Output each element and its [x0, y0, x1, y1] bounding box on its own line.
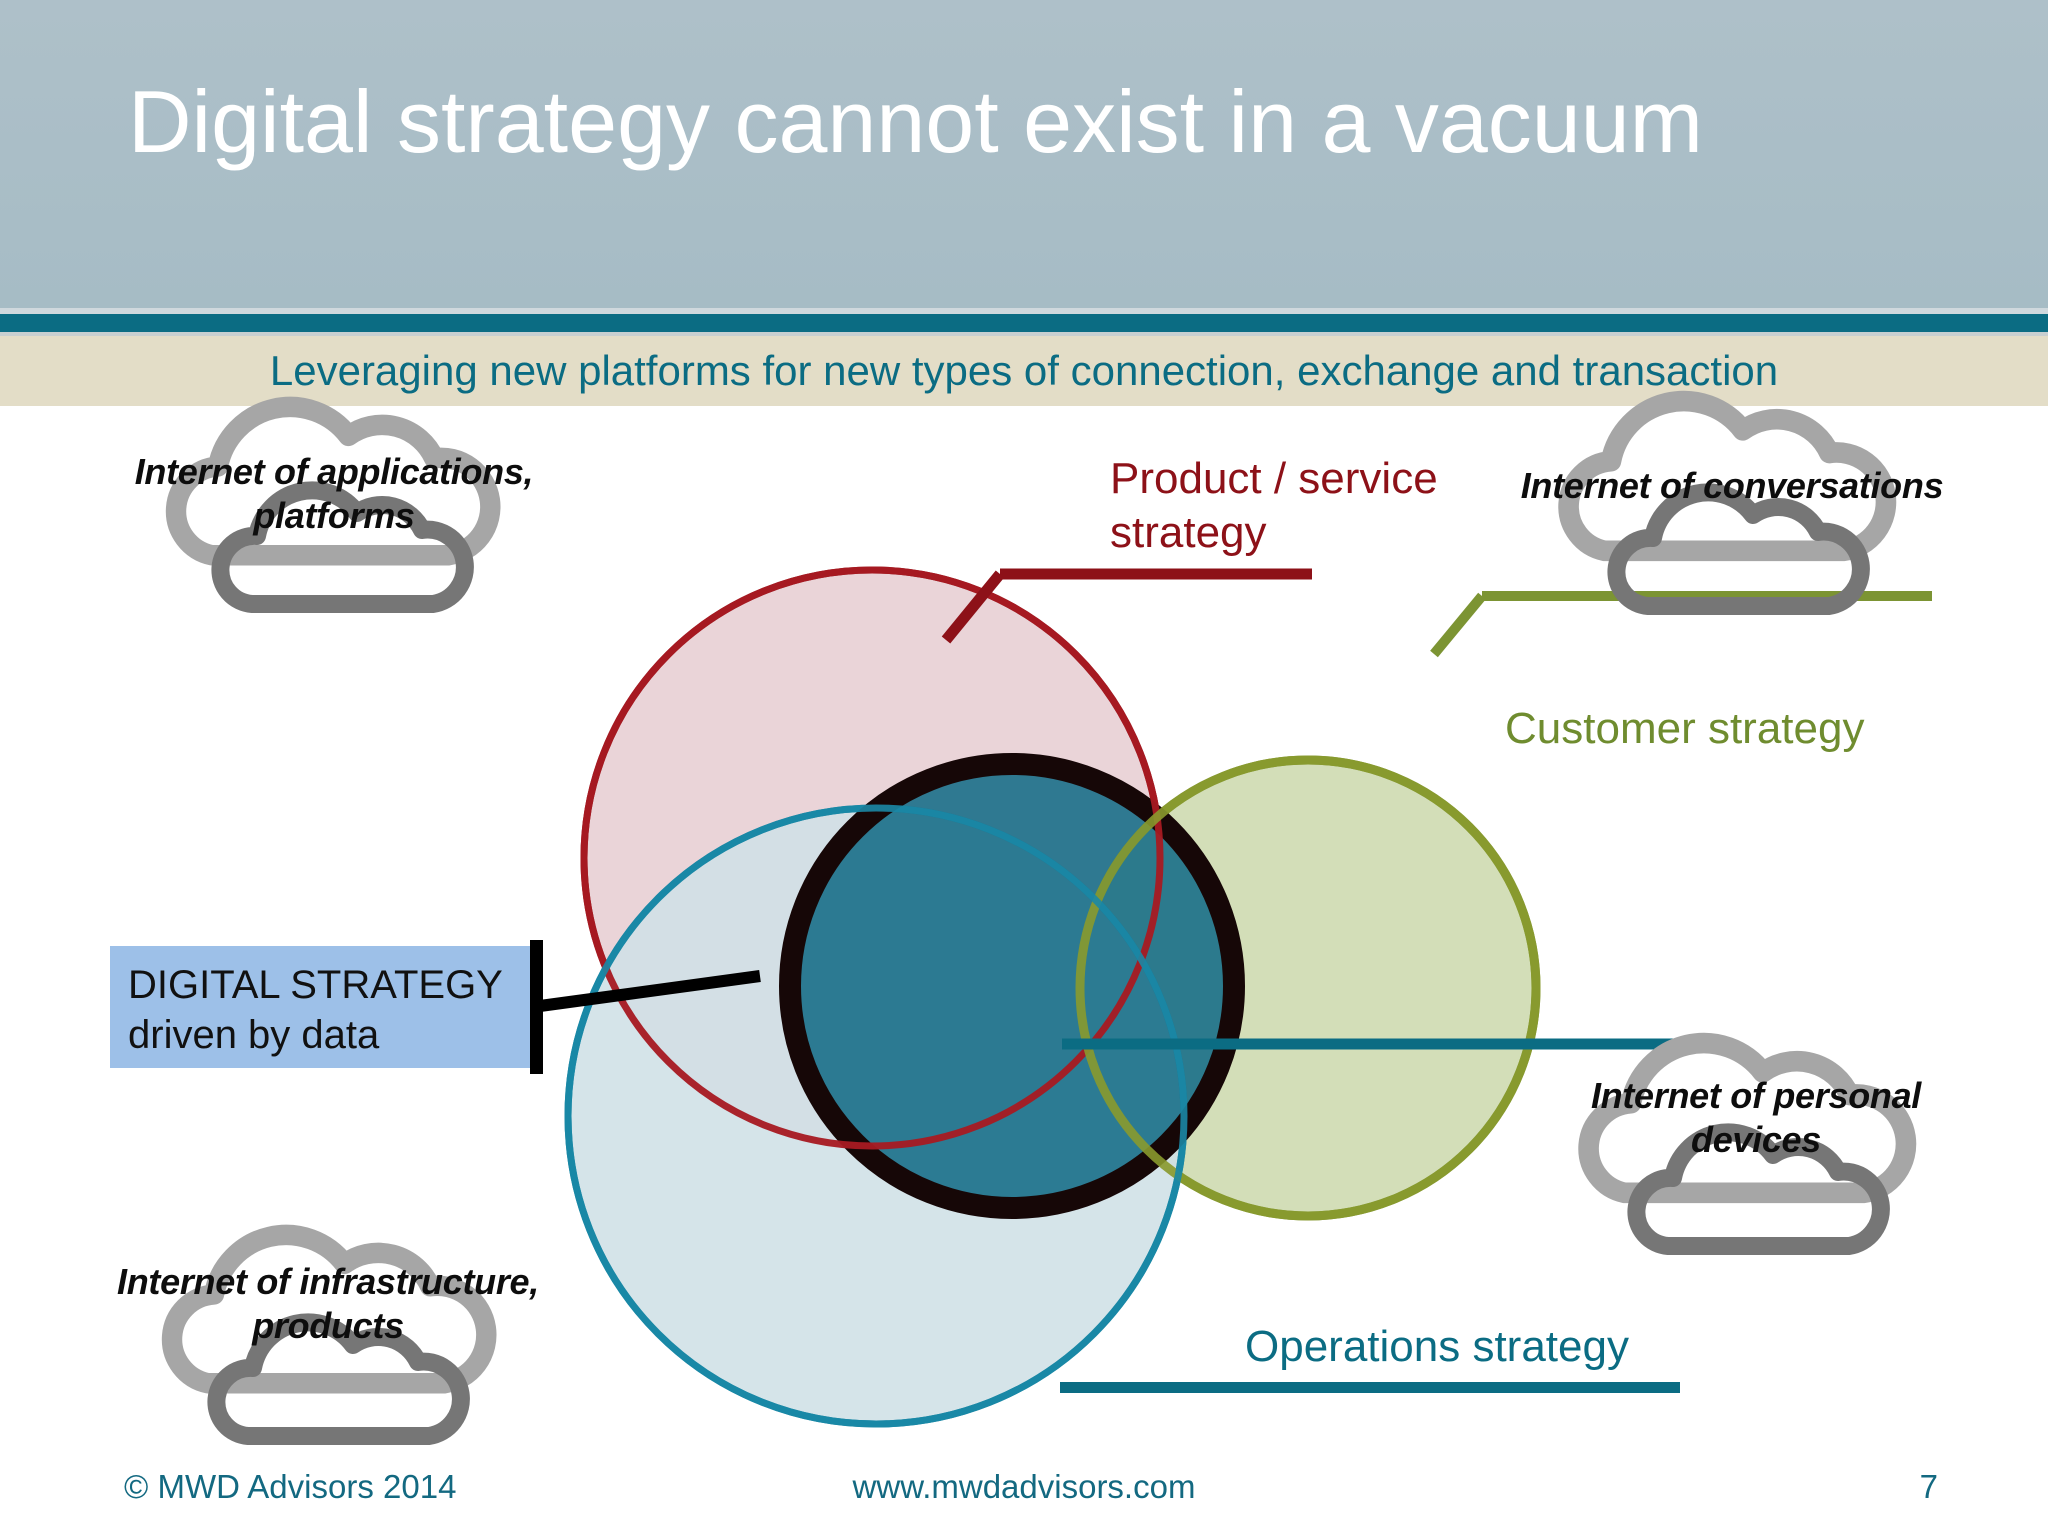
underline-operations [1060, 1382, 1680, 1393]
footer-website: www.mwdadvisors.com [0, 1468, 2048, 1506]
venn-circle-digital-core [790, 764, 1234, 1208]
cloud-internet-of-infrastructure: Internet of infrastructure, products [100, 1230, 540, 1462]
digital-strategy-callout-bar [530, 940, 543, 1074]
cloud-internet-of-applications: Internet of applications, platforms [104, 396, 544, 616]
leader-line-customer-diagonal [1434, 596, 1482, 654]
page-title: Digital strategy cannot exist in a vacuu… [128, 72, 1928, 172]
label-customer-strategy: Customer strategy [1505, 702, 1864, 756]
slide-canvas: Digital strategy cannot exist in a vacuu… [0, 0, 2048, 1536]
digital-strategy-label: DIGITAL STRATEGY driven by data [128, 960, 528, 1060]
cloud-label-conversations: Internet of conversations [1512, 464, 1952, 508]
footer-page-number: 7 [1920, 1468, 1938, 1506]
cloud-label-infrastructure: Internet of infrastructure, products [108, 1260, 548, 1348]
cloud-internet-of-personal-devices: Internet of personal devices [1520, 1030, 1960, 1262]
slide-footer: © MWD Advisors 2014 www.mwdadvisors.com … [0, 1468, 2048, 1536]
cloud-internet-of-conversations: Internet of conversations [1500, 394, 1940, 614]
label-operations-strategy: Operations strategy [1245, 1320, 1629, 1374]
cloud-label-applications: Internet of applications, platforms [114, 450, 554, 538]
label-product-service-strategy: Product / service strategy [1110, 452, 1438, 560]
digital-strategy-callout: DIGITAL STRATEGY driven by data [110, 946, 530, 1068]
title-divider-teal [0, 314, 2048, 332]
cloud-label-personal-devices: Internet of personal devices [1536, 1074, 1976, 1162]
